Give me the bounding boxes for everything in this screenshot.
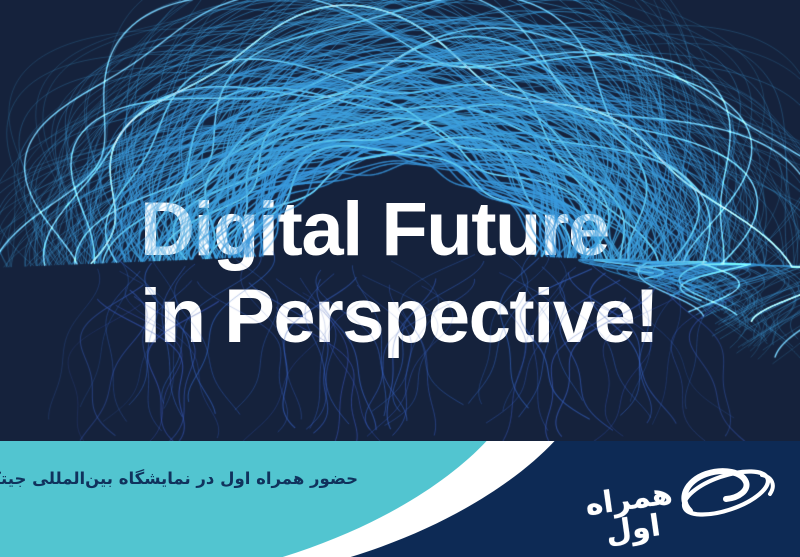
banner-caption: حضور همراه اول در نمایشگاه بین‌المللی جی… [0,469,358,490]
hero-section: Digital Future in Perspective! [0,0,800,441]
mci-logo: همراه اول [540,441,800,557]
promo-banner-image: Digital Future in Perspective! حضور همرا… [0,0,800,557]
bottom-banner: حضور همراه اول در نمایشگاه بین‌المللی جی… [0,441,800,557]
wave-artwork [0,0,800,441]
